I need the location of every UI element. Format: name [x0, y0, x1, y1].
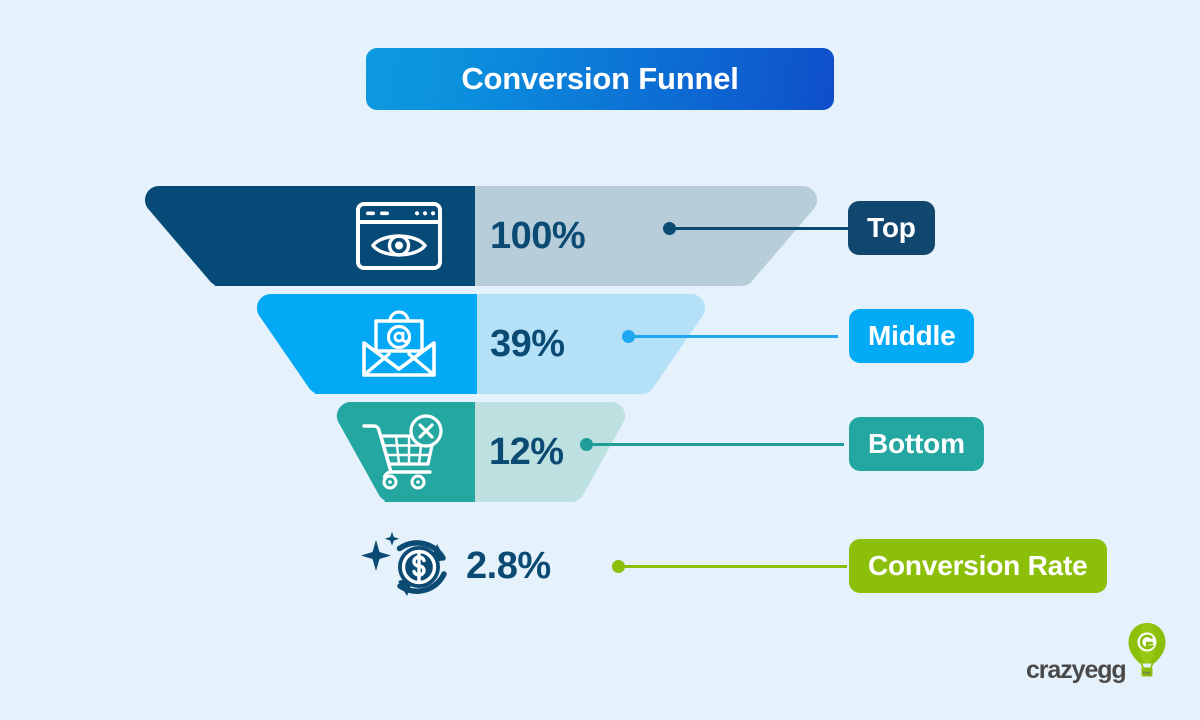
connector-conversion-rate: [612, 559, 847, 573]
badge-top[interactable]: Top: [848, 201, 935, 255]
funnel-stage-top[interactable]: 100%: [145, 186, 817, 286]
funnel-stage-bottom[interactable]: 12%: [337, 402, 625, 502]
badge-top-label: Top: [867, 212, 916, 244]
badge-middle[interactable]: Middle: [849, 309, 974, 363]
funnel-stage-conversion-rate[interactable]: 2.8%: [360, 518, 551, 614]
page-title-banner: Conversion Funnel: [366, 48, 834, 110]
badge-bottom-label: Bottom: [868, 428, 965, 460]
money-refresh-icon: [360, 524, 454, 608]
badge-conversion-rate-label: Conversion Rate: [868, 550, 1088, 582]
badge-bottom[interactable]: Bottom: [849, 417, 984, 471]
funnel-stage-conversion-rate-value: 2.8%: [466, 545, 551, 588]
connector-conversion-rate-line: [624, 565, 847, 568]
crazyegg-logo: crazyegg ™: [1026, 622, 1176, 694]
connector-bottom-line: [592, 443, 844, 446]
page-title: Conversion Funnel: [461, 61, 738, 97]
badge-conversion-rate[interactable]: Conversion Rate: [849, 539, 1107, 593]
infographic-canvas: Conversion Funnel: [0, 0, 1200, 720]
funnel-stage-top-shape: [145, 186, 817, 286]
funnel-stage-middle-shape: [257, 294, 705, 394]
funnel-stage-top-value: 100%: [490, 186, 585, 286]
funnel-stage-middle[interactable]: 39%: [257, 294, 705, 394]
connector-conversion-rate-dot: [612, 560, 625, 573]
funnel-stage-middle-value: 39%: [490, 294, 565, 394]
crazyegg-wordmark: crazyegg: [1026, 656, 1126, 685]
badge-middle-label: Middle: [868, 320, 955, 352]
funnel-stage-bottom-shape: [337, 402, 625, 502]
funnel-stage-bottom-value: 12%: [489, 402, 564, 502]
trademark-symbol: ™: [1142, 670, 1151, 680]
